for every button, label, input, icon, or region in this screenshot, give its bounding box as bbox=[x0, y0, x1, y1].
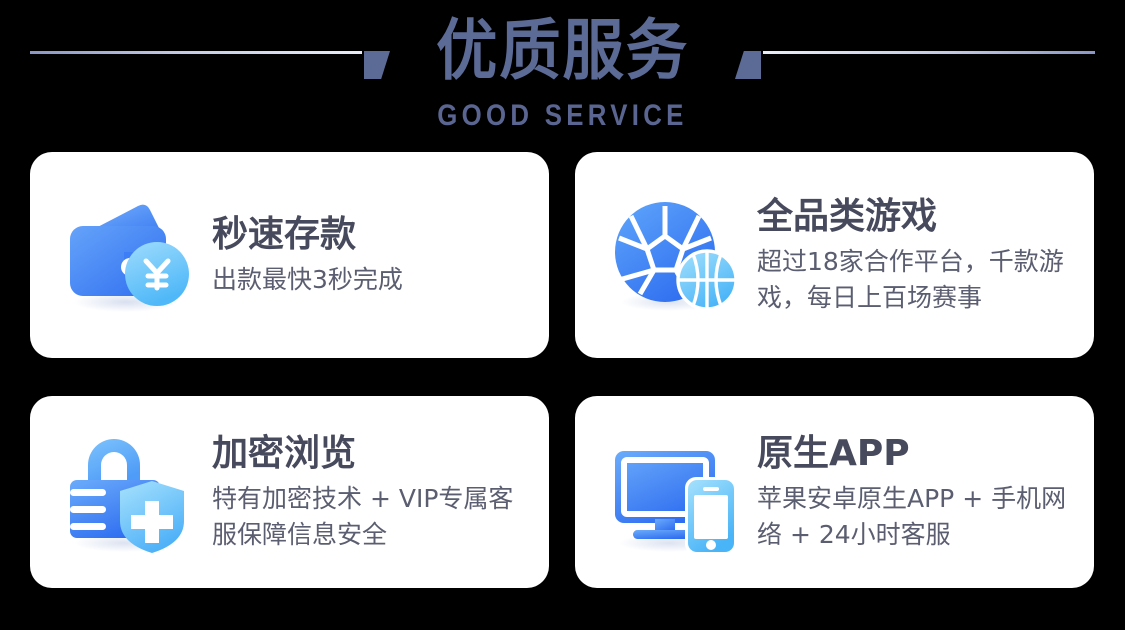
card-description: 苹果安卓原生APP + 手机网络 + 24小时客服 bbox=[757, 481, 1080, 553]
feature-card-grid: 秒速存款 出款最快3秒完成 bbox=[30, 152, 1096, 588]
card-title: 秒速存款 bbox=[212, 213, 403, 257]
feature-card-encryption[interactable]: 加密浏览 特有加密技术 + VIP专属客服保障信息安全 bbox=[30, 396, 549, 588]
card-text-block: 加密浏览 特有加密技术 + VIP专属客服保障信息安全 bbox=[212, 432, 549, 553]
feature-card-deposit[interactable]: 秒速存款 出款最快3秒完成 bbox=[30, 152, 549, 358]
feature-card-games[interactable]: 全品类游戏 超过18家合作平台，千款游戏，每日上百场赛事 bbox=[575, 152, 1094, 358]
card-title: 加密浏览 bbox=[212, 432, 535, 476]
page-subtitle: GOOD SERVICE bbox=[79, 98, 1047, 134]
wallet-yen-icon bbox=[62, 190, 204, 320]
card-title: 原生APP bbox=[757, 432, 1080, 476]
page-title: 优质服务 bbox=[39, 6, 1085, 96]
card-description: 超过18家合作平台，千款游戏，每日上百场赛事 bbox=[757, 244, 1080, 316]
card-title: 全品类游戏 bbox=[757, 195, 1080, 239]
card-text-block: 全品类游戏 超过18家合作平台，千款游戏，每日上百场赛事 bbox=[757, 195, 1094, 316]
feature-card-native-app[interactable]: 原生APP 苹果安卓原生APP + 手机网络 + 24小时客服 bbox=[575, 396, 1094, 588]
card-text-block: 秒速存款 出款最快3秒完成 bbox=[212, 213, 417, 298]
card-description: 特有加密技术 + VIP专属客服保障信息安全 bbox=[212, 481, 535, 553]
lock-shield-icon bbox=[62, 427, 204, 557]
soccer-basketball-icon bbox=[607, 190, 749, 320]
card-text-block: 原生APP 苹果安卓原生APP + 手机网络 + 24小时客服 bbox=[757, 432, 1094, 553]
page-header: 优质服务 GOOD SERVICE bbox=[0, 0, 1125, 150]
monitor-phone-icon bbox=[607, 427, 749, 557]
card-description: 出款最快3秒完成 bbox=[212, 262, 403, 298]
